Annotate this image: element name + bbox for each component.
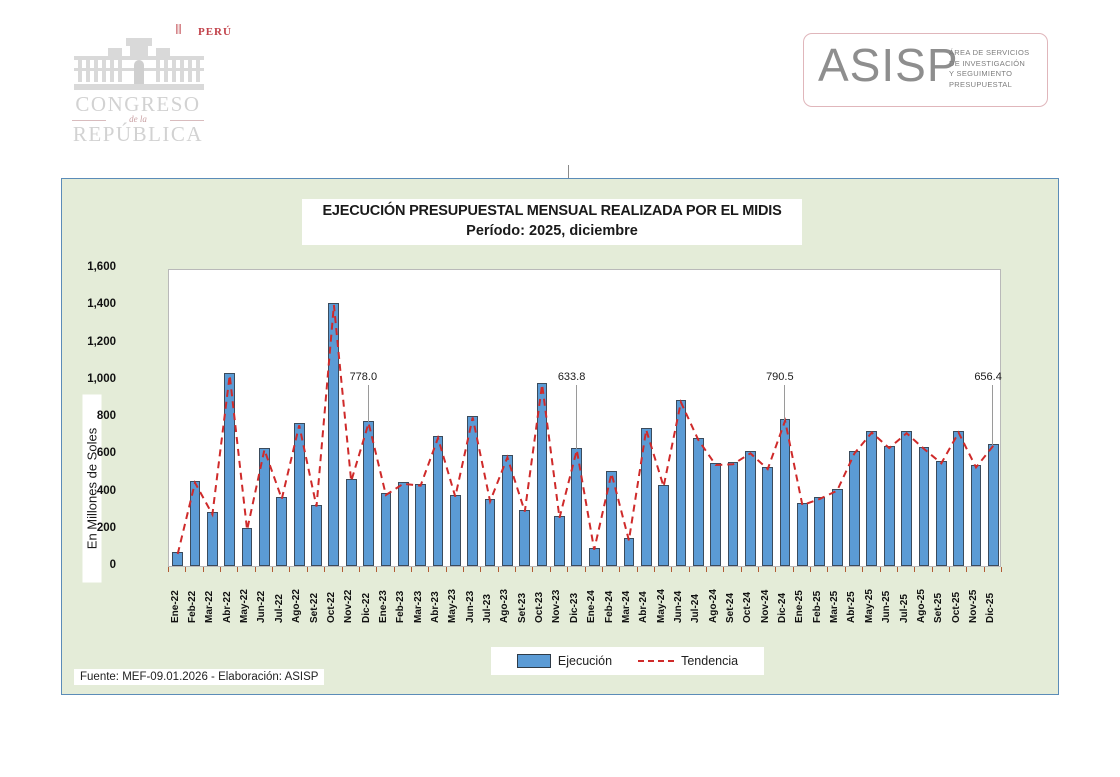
y-axis-tick-label: 1,600 [68, 261, 116, 273]
x-axis-tick-label: Feb-25 [812, 591, 823, 623]
x-axis-tick-label: Jun-24 [673, 591, 684, 623]
x-axis-tick-label: Oct-24 [742, 592, 753, 623]
data-label: 633.8 [558, 371, 586, 383]
x-axis-tick-mark [289, 567, 290, 572]
x-axis-tick-label: Abr-23 [430, 591, 441, 623]
x-axis-tick-label: May-25 [864, 589, 875, 623]
x-axis-tick-mark [619, 567, 620, 572]
republica-wordmark: REPÚBLICA [68, 122, 208, 147]
x-axis-tick-label: Oct-22 [326, 592, 337, 623]
x-axis-tick-label: Nov-25 [968, 590, 979, 623]
x-axis-tick-mark [966, 567, 967, 572]
x-axis-tick-mark [567, 567, 568, 572]
x-axis-tick-mark [862, 567, 863, 572]
asisp-subtitle-line-4: PRESUPUESTAL [949, 80, 1012, 89]
x-axis-tick-label: Jul-22 [274, 594, 285, 623]
x-axis-tick-mark [758, 567, 759, 572]
x-axis-tick-label: Feb-22 [187, 591, 198, 623]
x-axis-tick-label: Jul-25 [899, 594, 910, 623]
x-axis-tick-mark [463, 567, 464, 572]
x-axis-tick-mark [446, 567, 447, 572]
x-axis-tick-label: Mar-22 [204, 591, 215, 623]
asisp-subtitle-line-2: DE INVESTIGACIÓN [949, 59, 1025, 68]
y-axis-tick-label: 1,400 [68, 298, 116, 310]
x-axis-tick-label: Set-24 [725, 593, 736, 623]
x-axis-tick-label: Dic-22 [361, 593, 372, 623]
x-axis-tick-mark [845, 567, 846, 572]
x-axis-tick-mark [428, 567, 429, 572]
x-axis-tick-label: Feb-24 [604, 591, 615, 623]
source-note: Fuente: MEF-09.01.2026 - Elaboración: AS… [74, 669, 324, 685]
x-axis-tick-label: Mar-24 [621, 591, 632, 623]
x-axis-tick-label: Abr-24 [638, 591, 649, 623]
y-axis-tick-label: 0 [68, 559, 116, 571]
chart-title: EJECUCIÓN PRESUPUESTAL MENSUAL REALIZADA… [302, 199, 802, 245]
plot-area [168, 269, 1001, 567]
y-axis-tick-label: 800 [68, 410, 116, 422]
peru-flag-icon [176, 24, 181, 34]
x-axis-tick-label: Nov-23 [551, 590, 562, 623]
x-axis-tick-mark [949, 567, 950, 572]
congreso-de-la-republica-logo: PERÚ CONGRESO de la REPÚBLIC [68, 22, 268, 132]
x-axis-tick-label: Ene-25 [794, 590, 805, 623]
x-axis-tick-label: May-24 [656, 589, 667, 623]
x-axis-tick-mark [602, 567, 603, 572]
x-axis-tick-mark [775, 567, 776, 572]
x-axis-tick-label: Oct-25 [951, 592, 962, 623]
x-axis-tick-mark [324, 567, 325, 572]
y-axis-tick-label: 400 [68, 485, 116, 497]
congress-building-icon [74, 38, 204, 90]
data-label: 656.4 [974, 371, 1002, 383]
x-axis-tick-mark [793, 567, 794, 572]
legend-label-ejecucion: Ejecución [558, 654, 612, 668]
x-axis-tick-label: Feb-23 [395, 591, 406, 623]
x-axis-tick-mark [342, 567, 343, 572]
x-axis-tick-mark [654, 567, 655, 572]
x-axis-tick-mark [897, 567, 898, 572]
x-axis-tick-label: Ago-24 [708, 589, 719, 623]
x-axis-tick-mark [880, 567, 881, 572]
x-axis-tick-mark [689, 567, 690, 572]
legend-item-ejecucion[interactable]: Ejecución [517, 654, 612, 668]
x-axis-tick-label: Abr-25 [846, 591, 857, 623]
x-axis-tick-mark [307, 567, 308, 572]
x-axis-tick-label: Nov-22 [343, 590, 354, 623]
data-label-leader-line [992, 385, 993, 444]
x-axis-tick-label: Jun-23 [465, 591, 476, 623]
x-axis-tick-mark [237, 567, 238, 572]
data-label: 778.0 [350, 371, 378, 383]
x-axis-tick-mark [984, 567, 985, 572]
x-axis-tick-mark [185, 567, 186, 572]
trend-line-series [169, 270, 1002, 568]
legend-bar-swatch-icon [517, 654, 551, 668]
asisp-subtitle-line-1: ÁREA DE SERVICIOS [949, 48, 1029, 57]
asisp-subtitle: ÁREA DE SERVICIOS DE INVESTIGACIÓN Y SEG… [949, 48, 1044, 90]
x-axis-tick-mark [550, 567, 551, 572]
legend-label-tendencia: Tendencia [681, 654, 738, 668]
x-axis-tick-label: Dic-25 [985, 593, 996, 623]
x-axis-tick-mark [706, 567, 707, 572]
x-axis-tick-label: Ago-22 [291, 589, 302, 623]
x-axis-tick-label: Jun-25 [881, 591, 892, 623]
x-axis-tick-mark [498, 567, 499, 572]
x-axis-tick-mark [827, 567, 828, 572]
legend-dashed-line-icon [638, 660, 674, 662]
x-axis-tick-mark [932, 567, 933, 572]
y-axis-tick-label: 200 [68, 522, 116, 534]
x-axis-tick-mark [532, 567, 533, 572]
x-axis-tick-mark [914, 567, 915, 572]
data-label: 790.5 [766, 371, 794, 383]
x-axis-tick-label: Mar-25 [829, 591, 840, 623]
x-axis-tick-label: Oct-23 [534, 592, 545, 623]
x-axis-tick-label: Dic-24 [777, 593, 788, 623]
x-axis-tick-label: May-22 [239, 589, 250, 623]
x-axis-tick-mark [220, 567, 221, 572]
x-axis-tick-label: Ago-25 [916, 589, 927, 623]
x-axis-tick-mark [637, 567, 638, 572]
chart-legend: Ejecución Tendencia [491, 647, 764, 675]
asisp-acronym: ASISP [818, 38, 959, 92]
x-axis-tick-label: Set-25 [933, 593, 944, 623]
x-axis-tick-mark [203, 567, 204, 572]
x-axis-tick-mark [515, 567, 516, 572]
x-axis-tick-mark [255, 567, 256, 572]
x-axis-tick-label: Nov-24 [760, 590, 771, 623]
chart-title-line-1: EJECUCIÓN PRESUPUESTAL MENSUAL REALIZADA… [308, 203, 796, 219]
page-header: PERÚ CONGRESO de la REPÚBLIC [0, 0, 1120, 148]
x-axis-tick-mark [585, 567, 586, 572]
x-axis-tick-label: Set-22 [309, 593, 320, 623]
data-label-leader-line [368, 385, 369, 422]
chart-title-line-2: Período: 2025, diciembre [308, 223, 796, 239]
trend-polyline [178, 305, 994, 554]
x-axis-tick-mark [1001, 567, 1002, 572]
y-axis-tick-label: 1,000 [68, 373, 116, 385]
x-axis-tick-label: Jul-23 [482, 594, 493, 623]
x-axis-tick-mark [671, 567, 672, 572]
x-axis-tick-label: Set-23 [517, 593, 528, 623]
x-axis-tick-mark [272, 567, 273, 572]
x-axis-tick-mark [394, 567, 395, 572]
x-axis-tick-mark [168, 567, 169, 572]
asisp-subtitle-line-3: Y SEGUIMIENTO [949, 69, 1012, 78]
peru-label: PERÚ [198, 26, 232, 38]
legend-item-tendencia[interactable]: Tendencia [638, 654, 738, 668]
x-axis-tick-label: Ago-23 [499, 589, 510, 623]
x-axis-tick-mark [411, 567, 412, 572]
x-axis-tick-mark [359, 567, 360, 572]
chart-panel: EJECUCIÓN PRESUPUESTAL MENSUAL REALIZADA… [61, 178, 1059, 695]
x-axis-tick-label: Ene-22 [170, 590, 181, 623]
x-axis-tick-label: Abr-22 [222, 591, 233, 623]
x-axis-tick-label: Jun-22 [256, 591, 267, 623]
y-axis-tick-label: 600 [68, 447, 116, 459]
x-axis-tick-mark [376, 567, 377, 572]
x-axis-tick-label: Ene-23 [378, 590, 389, 623]
x-axis-tick-mark [723, 567, 724, 572]
x-axis-tick-label: Mar-23 [413, 591, 424, 623]
x-axis-tick-label: Ene-24 [586, 590, 597, 623]
data-label-leader-line [576, 385, 577, 449]
x-axis-tick-mark [480, 567, 481, 572]
x-axis-tick-label: Dic-23 [569, 593, 580, 623]
x-axis-tick-label: Jul-24 [690, 594, 701, 623]
panel-top-tick [568, 165, 569, 178]
y-axis-tick-label: 1,200 [68, 336, 116, 348]
data-label-leader-line [784, 385, 785, 419]
x-axis-tick-mark [741, 567, 742, 572]
x-axis-tick-label: May-23 [447, 589, 458, 623]
asisp-logo: ASISP ÁREA DE SERVICIOS DE INVESTIGACIÓN… [803, 33, 1048, 107]
x-axis-tick-mark [810, 567, 811, 572]
